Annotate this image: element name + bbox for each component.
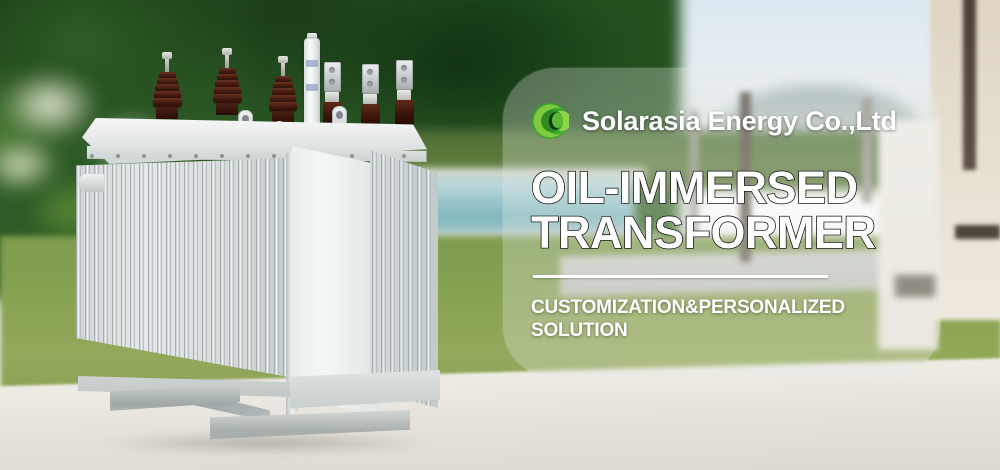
- radiator-fins-front: [76, 158, 294, 408]
- bushing-base: [156, 107, 178, 119]
- house-trim-band: [955, 225, 1000, 239]
- brand-row: Solarasia Energy Co.,Ltd: [531, 98, 906, 144]
- bushing-cap: [222, 48, 232, 55]
- bushing-cap: [278, 56, 288, 63]
- tank-side-valve: [78, 174, 104, 192]
- bushing-collar: [363, 94, 377, 104]
- bushing-collar: [325, 92, 339, 102]
- headline-divider: [533, 275, 828, 278]
- bushing-body: [395, 100, 414, 126]
- radiator-fins-rear: [370, 150, 438, 408]
- headline-overlay-panel: Solarasia Energy Co.,Ltd OIL-IMMERSED TR…: [503, 68, 940, 378]
- gauge-marker-band: [306, 84, 318, 91]
- headline-content: Solarasia Energy Co.,Ltd OIL-IMMERSED TR…: [503, 68, 940, 378]
- bushing-sheds: [213, 69, 242, 103]
- headline-line-2: TRANSFORMER: [531, 211, 906, 255]
- gauge-cap: [307, 33, 317, 39]
- solarasia-crescent-logo-icon: [531, 102, 569, 140]
- bushing-stem: [225, 55, 229, 69]
- oil-level-gauge-cylinder: [304, 38, 320, 134]
- gauge-label-band: [306, 60, 318, 67]
- product-banner: Solarasia Energy Co.,Ltd OIL-IMMERSED TR…: [0, 0, 1000, 470]
- bushing-sheds: [153, 73, 182, 107]
- bushing-base: [272, 111, 294, 123]
- bushing-cap: [162, 52, 172, 59]
- bushing-stem: [281, 63, 285, 77]
- product-ground-shadow: [100, 432, 430, 454]
- brand-name: Solarasia Energy Co.,Ltd: [582, 108, 897, 135]
- terminal-lug: [396, 60, 413, 90]
- page-title: OIL-IMMERSED TRANSFORMER: [531, 166, 906, 255]
- house-column: [963, 0, 976, 170]
- oil-immersed-transformer: [70, 18, 450, 433]
- terminal-lug: [324, 62, 341, 92]
- bushing-collar: [397, 90, 411, 100]
- bushing-sheds: [269, 77, 297, 111]
- bushing-base: [216, 103, 238, 115]
- subtitle: CUSTOMIZATION&PERSONALIZED SOLUTION: [531, 296, 906, 342]
- headline-line-1: OIL-IMMERSED: [531, 166, 906, 210]
- terminal-lug: [362, 64, 379, 94]
- bushing-stem: [165, 59, 169, 73]
